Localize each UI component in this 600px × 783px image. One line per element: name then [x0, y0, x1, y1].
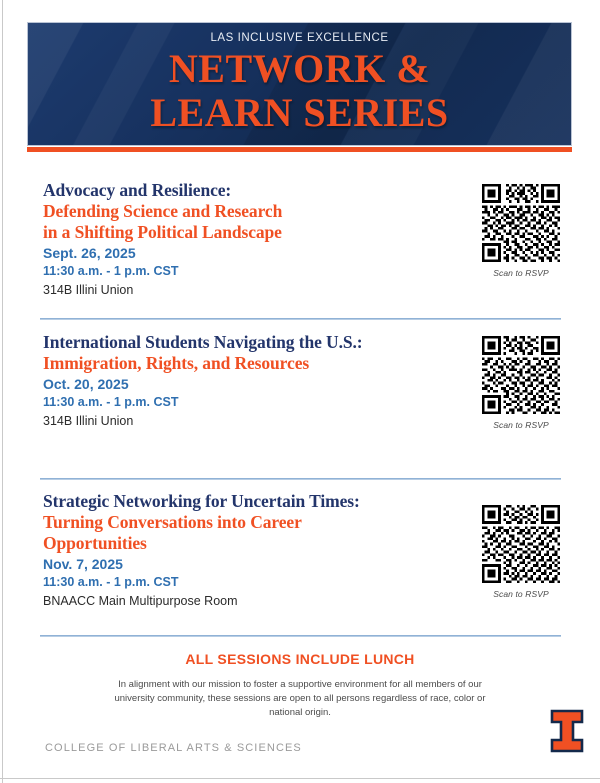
event-2-qr-caption: Scan to RSVP [471, 420, 571, 430]
nondiscrimination-statement: In alignment with our mission to foster … [105, 678, 495, 720]
event-2-location: 314B Illini Union [43, 412, 453, 430]
event-1-qr-block[interactable]: Scan to RSVP [471, 184, 571, 278]
event-3-details: Strategic Networking for Uncertain Times… [43, 491, 453, 610]
banner-eyebrow: LAS INCLUSIVE EXCELLENCE [28, 32, 571, 44]
page-border-bottom [0, 778, 600, 779]
event-2-qr-block[interactable]: Scan to RSVP [471, 336, 571, 430]
event-1-title-line2: Defending Science and Research [43, 201, 453, 222]
event-1-qr-code[interactable] [482, 184, 560, 262]
event-1-time: 11:30 a.m. - 1 p.m. CST [43, 263, 453, 280]
event-3-title-line2: Turning Conversations into Career [43, 512, 453, 533]
flyer-page: LAS INCLUSIVE EXCELLENCE NETWORK & LEARN… [0, 0, 600, 783]
lunch-note: ALL SESSIONS INCLUDE LUNCH [0, 651, 600, 667]
college-name: COLLEGE OF LIBERAL ARTS & SCIENCES [45, 742, 302, 754]
event-1-date: Sept. 26, 2025 [43, 244, 453, 263]
event-3-location: BNAACC Main Multipurpose Room [43, 592, 453, 610]
event-1-title-line3: in a Shifting Political Landscape [43, 222, 453, 243]
block-i-icon [550, 709, 584, 753]
event-3-qr-caption: Scan to RSVP [471, 589, 571, 599]
event-2-date: Oct. 20, 2025 [43, 375, 453, 394]
event-1-title-line1: Advocacy and Resilience: [43, 180, 453, 201]
event-2-title-line1: International Students Navigating the U.… [43, 332, 453, 353]
event-2-title-line2: Immigration, Rights, and Resources [43, 353, 453, 374]
section-divider-2 [40, 478, 561, 480]
banner-panel: LAS INCLUSIVE EXCELLENCE NETWORK & LEARN… [27, 22, 572, 146]
section-divider-3 [40, 635, 561, 637]
banner-title-line1: NETWORK & [28, 47, 571, 91]
event-3-title-line3: Opportunities [43, 533, 453, 554]
event-2-qr-code[interactable] [482, 336, 560, 414]
event-3-qr-code[interactable] [482, 505, 560, 583]
event-1-details: Advocacy and Resilience: Defending Scien… [43, 180, 453, 299]
banner-title: NETWORK & LEARN SERIES [28, 47, 571, 135]
event-1-qr-caption: Scan to RSVP [471, 268, 571, 278]
banner-title-line2: LEARN SERIES [28, 91, 571, 135]
header-banner: LAS INCLUSIVE EXCELLENCE NETWORK & LEARN… [27, 22, 572, 152]
event-3-qr-block[interactable]: Scan to RSVP [471, 505, 571, 599]
event-3-date: Nov. 7, 2025 [43, 555, 453, 574]
event-1-location: 314B Illini Union [43, 281, 453, 299]
illinois-block-i-logo [550, 709, 584, 758]
section-divider-1 [40, 318, 561, 320]
event-2-time: 11:30 a.m. - 1 p.m. CST [43, 394, 453, 411]
event-2-details: International Students Navigating the U.… [43, 332, 453, 430]
banner-accent-rule [27, 147, 572, 152]
event-3-time: 11:30 a.m. - 1 p.m. CST [43, 574, 453, 591]
event-3-title-line1: Strategic Networking for Uncertain Times… [43, 491, 453, 512]
